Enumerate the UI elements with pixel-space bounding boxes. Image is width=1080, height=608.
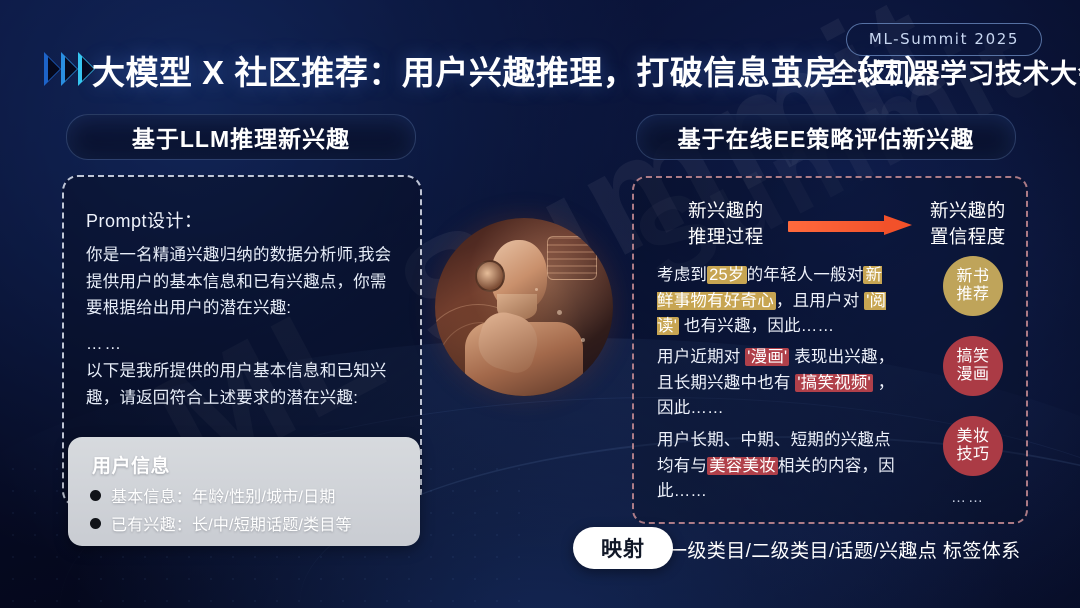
section-header-right: 基于在线EE策略评估新兴趣 (636, 114, 1016, 160)
flow-label-right-line2: 置信程度 (930, 226, 1006, 247)
interest-badge-ellipsis: …… (951, 489, 985, 506)
reasoning-row: 考虑到25岁的年轻人一般对新鲜事物有好奇心，且用户对 '阅读' 也有兴趣，因此…… (657, 263, 895, 340)
section-header-left: 基于LLM推理新兴趣 (66, 114, 416, 160)
bullet-icon (90, 490, 101, 501)
prompt-body: 你是一名精通兴趣归纳的数据分析师,我会提供用户的基本信息和已有兴趣点，你需要根据… (86, 242, 394, 411)
interest-badge-3-line1: 美妆 (956, 428, 989, 446)
flow-label-left-line1: 新兴趣的 (688, 200, 764, 221)
text-segment: ，且用户对 (776, 292, 864, 310)
flow-label-left-line2: 推理过程 (688, 226, 764, 247)
reasoning-text-3: 用户长期、中期、短期的兴趣点均有与美容美妆相关的内容，因此…… (657, 428, 895, 505)
text-segment: 考虑到 (657, 266, 707, 284)
mapping-pill: 映射 (573, 527, 673, 569)
interest-badge-1: 新书 推荐 (943, 256, 1003, 316)
interest-badge-3: 美妆 技巧 (943, 416, 1003, 476)
prompt-paragraph-2: 以下是我所提供的用户基本信息和已知兴趣，请返回符合上述要求的潜在兴趣: (86, 362, 387, 407)
reasoning-text-1: 考虑到25岁的年轻人一般对新鲜事物有好奇心，且用户对 '阅读' 也有兴趣，因此…… (657, 263, 895, 340)
interest-badge-2-line1: 搞笑 (956, 348, 989, 366)
interest-badge-2: 搞笑 漫画 (943, 336, 1003, 396)
highlighted-text-segment: 美容美妆 (707, 457, 778, 475)
bullet-icon (90, 518, 101, 529)
reasoning-row: 用户长期、中期、短期的兴趣点均有与美容美妆相关的内容，因此…… (657, 428, 895, 505)
thinking-robot-image (435, 218, 613, 396)
reasoning-text-2: 用户近期对 '漫画' 表现出兴趣，且长期兴趣中也有 '搞笑视频' ，因此…… (657, 345, 895, 422)
interest-badge-1-line2: 推荐 (956, 286, 989, 304)
list-item: 基本信息：年龄/性别/城市/日期 (90, 483, 408, 507)
right-arrow-icon (788, 218, 914, 232)
conference-name-overlay: 全球机器学习技术大会 (830, 52, 1080, 91)
highlighted-text-segment: 25岁 (707, 266, 746, 284)
list-item: 已有兴趣：长/中/短期话题/类目等 (90, 511, 408, 535)
text-segment: 也有兴趣，因此…… (679, 317, 834, 335)
user-info-title: 用户信息 (92, 451, 170, 478)
interest-badge-2-line2: 漫画 (956, 366, 989, 384)
prompt-design-label: Prompt设计： (86, 207, 203, 233)
page-title: 大模型 X 社区推荐：用户兴趣推理，打破信息茧房（二） (92, 46, 938, 94)
mapping-taxonomy-text: 一级类目/二级类目/话题/兴趣点 标签体系 (668, 536, 1021, 563)
user-info-card: 用户信息 基本信息：年龄/性别/城市/日期 已有兴趣：长/中/短期话题/类目等 (68, 437, 420, 546)
slide-root: ML Summit Summit 大模型 X 社区推荐：用户兴趣推理，打破信息茧… (0, 0, 1080, 608)
user-info-item-1: 基本信息：年龄/性别/城市/日期 (111, 483, 336, 507)
flow-label-right: 新兴趣的 置信程度 (930, 198, 1006, 251)
highlighted-text-segment: '搞笑视频' (795, 374, 873, 392)
reasoning-row: 用户近期对 '漫画' 表现出兴趣，且长期兴趣中也有 '搞笑视频' ，因此…… (657, 345, 895, 422)
text-segment: 用户近期对 (657, 348, 745, 366)
interest-badge-1-line1: 新书 (956, 268, 989, 286)
highlighted-text-segment: '漫画' (745, 348, 789, 366)
flow-label-left: 新兴趣的 推理过程 (688, 198, 764, 251)
prompt-paragraph-1: 你是一名精通兴趣归纳的数据分析师,我会提供用户的基本信息和已有兴趣点，你需要根据… (86, 246, 391, 317)
flow-label-right-line1: 新兴趣的 (930, 200, 1006, 221)
user-info-item-2: 已有兴趣：长/中/短期话题/类目等 (111, 511, 352, 535)
user-info-list: 基本信息：年龄/性别/城市/日期 已有兴趣：长/中/短期话题/类目等 (90, 483, 408, 539)
prompt-ellipsis: …… (86, 335, 123, 353)
summit-badge: ML-Summit 2025 (846, 23, 1042, 56)
interest-badge-3-line2: 技巧 (956, 446, 989, 464)
text-segment: 的年轻人一般对 (747, 266, 864, 284)
